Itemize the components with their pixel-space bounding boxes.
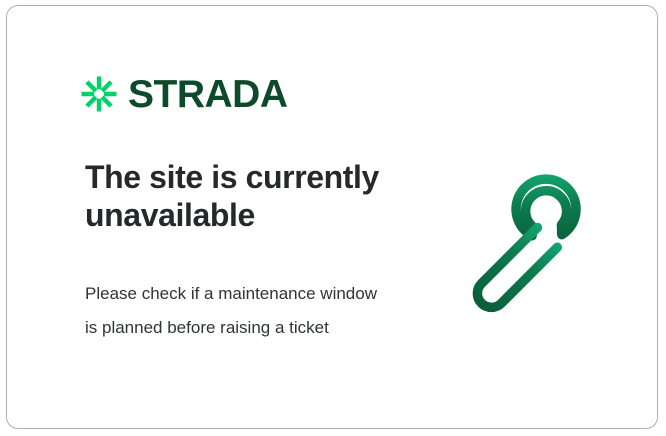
message-block: The site is currently unavailable Please… <box>85 158 425 345</box>
brand-lockup: STRADA <box>79 74 288 114</box>
page-background: STRADA The site is currently unavailable… <box>0 0 666 436</box>
brand-wordmark: STRADA <box>128 75 288 114</box>
page-description: Please check if a maintenance window is … <box>85 234 385 345</box>
page-title: The site is currently unavailable <box>85 158 405 234</box>
asterisk-star-icon <box>79 74 119 114</box>
status-card: STRADA The site is currently unavailable… <box>6 5 658 429</box>
wrench-illustration <box>462 158 622 318</box>
